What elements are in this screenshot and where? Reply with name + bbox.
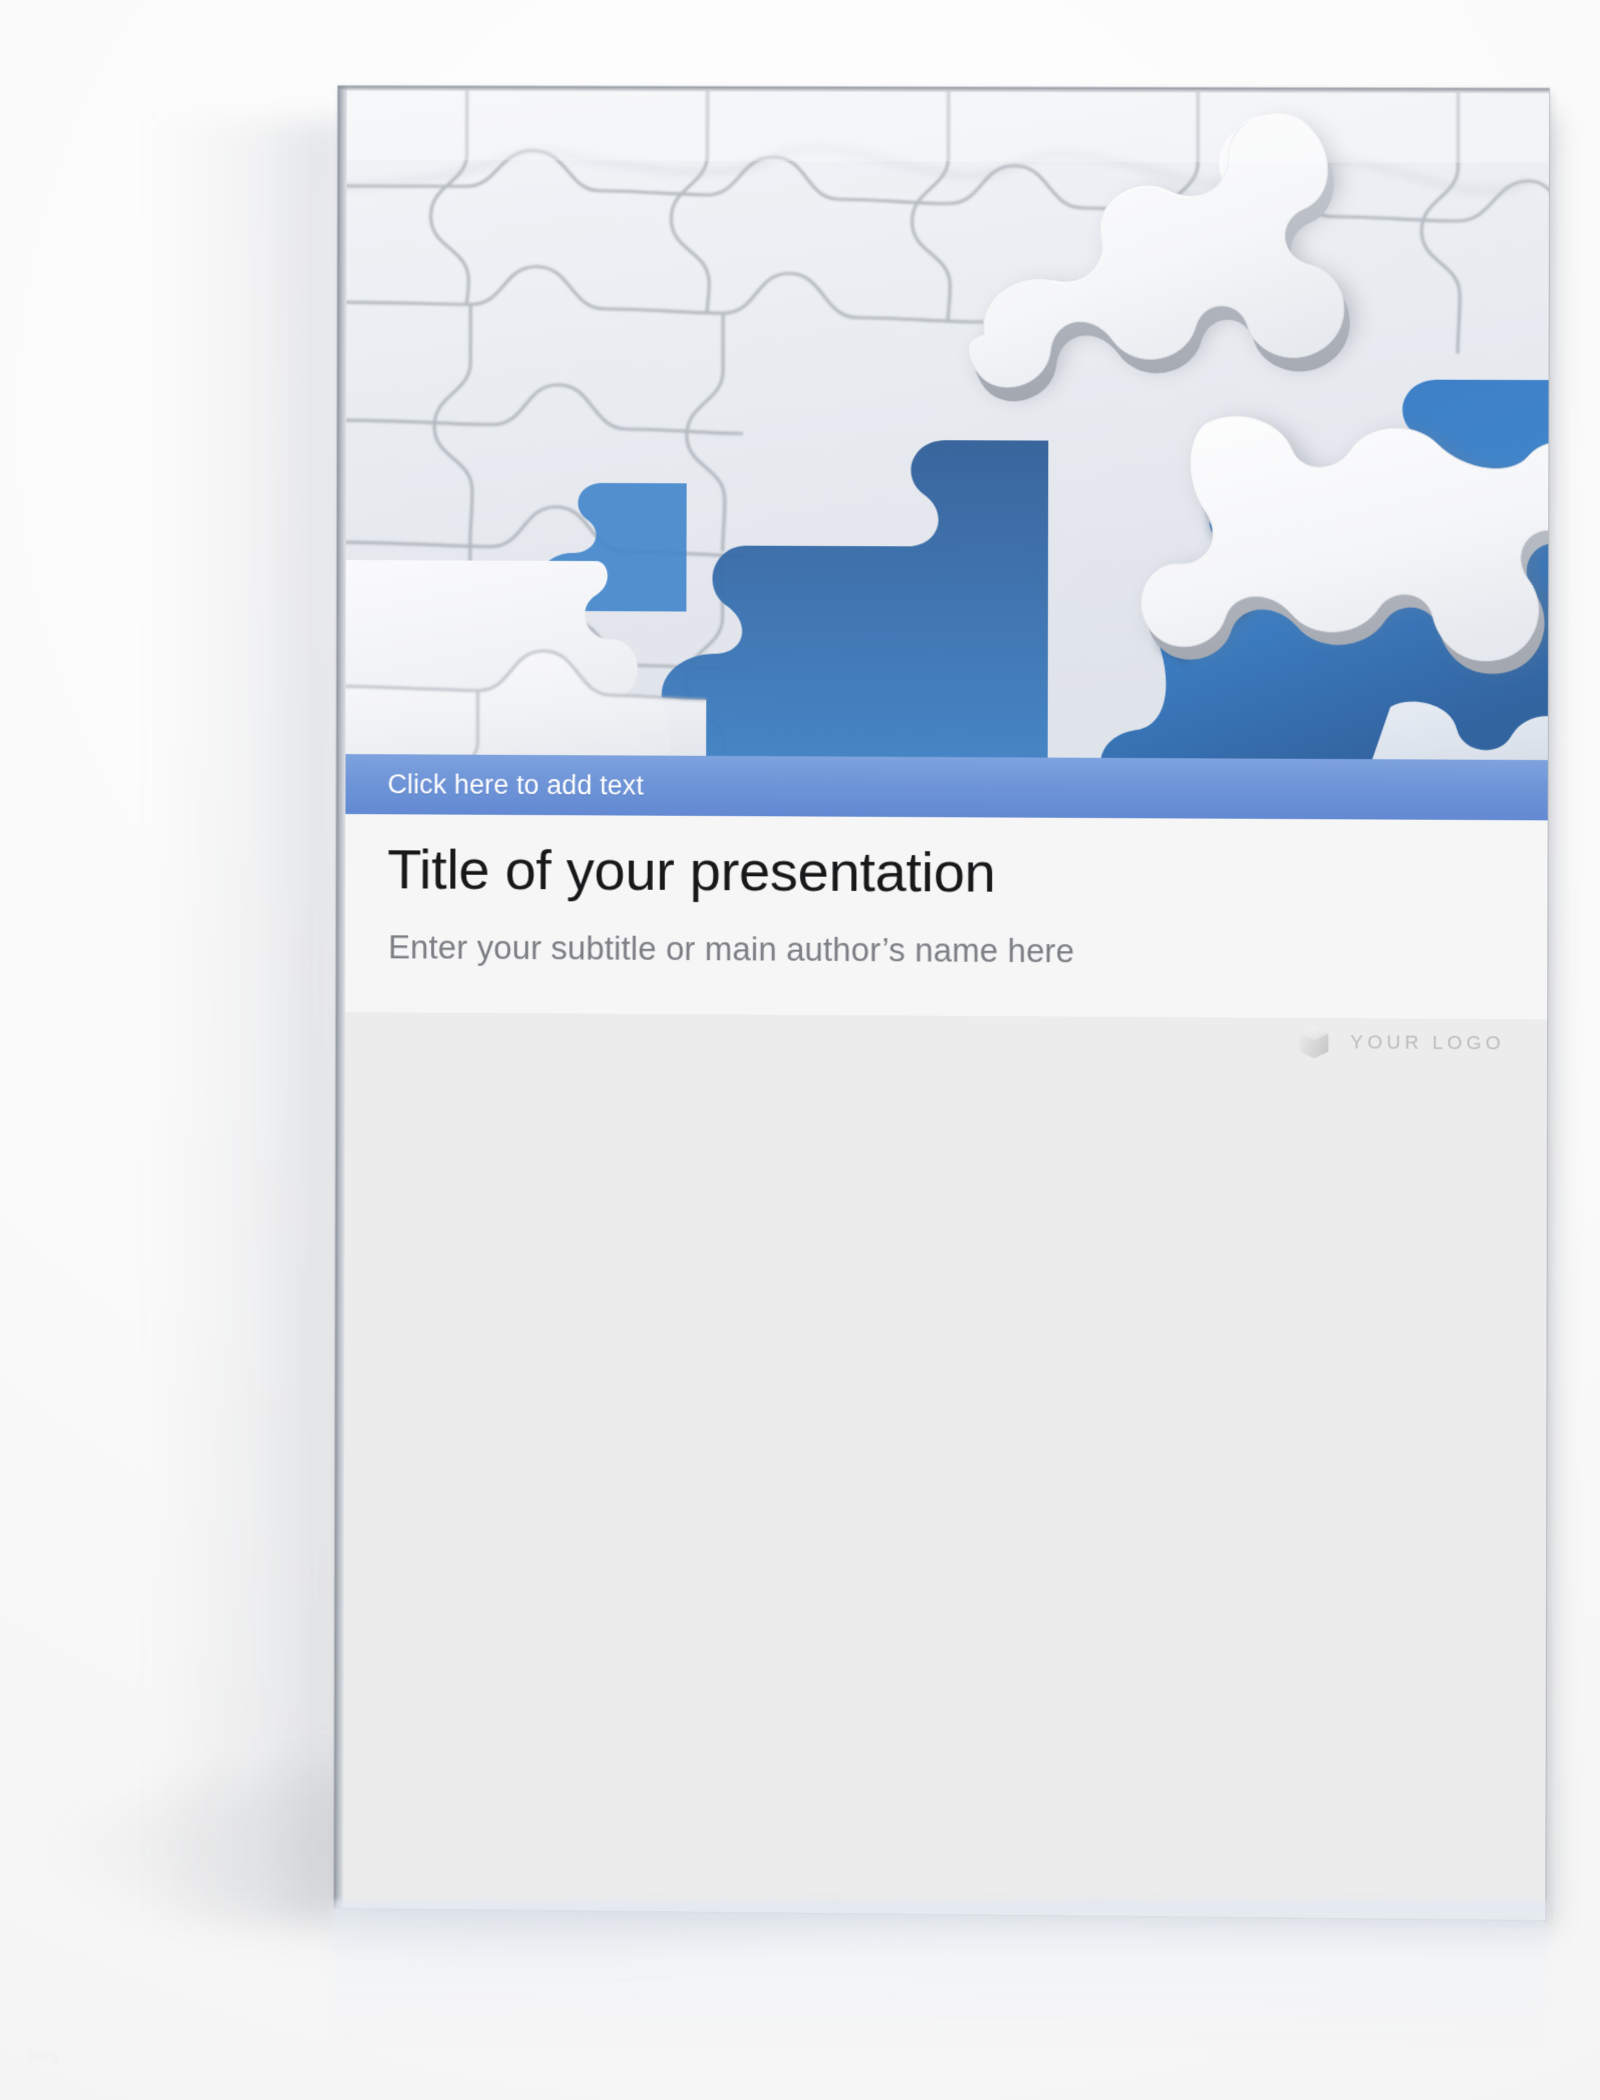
sheet-reflection bbox=[332, 1900, 1547, 2051]
caption-placeholder-text: Click here to add text bbox=[388, 769, 644, 801]
caption-placeholder-band[interactable]: Click here to add text bbox=[345, 754, 1547, 820]
jigsaw-puzzle-illustration bbox=[346, 90, 1550, 768]
cube-icon bbox=[1295, 1024, 1333, 1062]
presentation-title[interactable]: Title of your presentation bbox=[387, 836, 995, 904]
left-edge-shadow bbox=[150, 120, 350, 1920]
title-block: Title of your presentation Enter your su… bbox=[345, 814, 1548, 1019]
slide-body-placeholder[interactable]: YOUR LOGO bbox=[343, 1012, 1547, 1920]
hero-image-jigsaw-puzzle[interactable] bbox=[346, 90, 1550, 768]
presentation-slide[interactable]: Click here to add text Title of your pre… bbox=[334, 86, 1549, 1920]
watermark-text: blog bbox=[28, 2048, 58, 2065]
presentation-subtitle[interactable]: Enter your subtitle or main author’s nam… bbox=[388, 928, 1074, 970]
logo-placeholder[interactable]: YOUR LOGO bbox=[1295, 1024, 1505, 1063]
logo-label: YOUR LOGO bbox=[1350, 1032, 1504, 1055]
